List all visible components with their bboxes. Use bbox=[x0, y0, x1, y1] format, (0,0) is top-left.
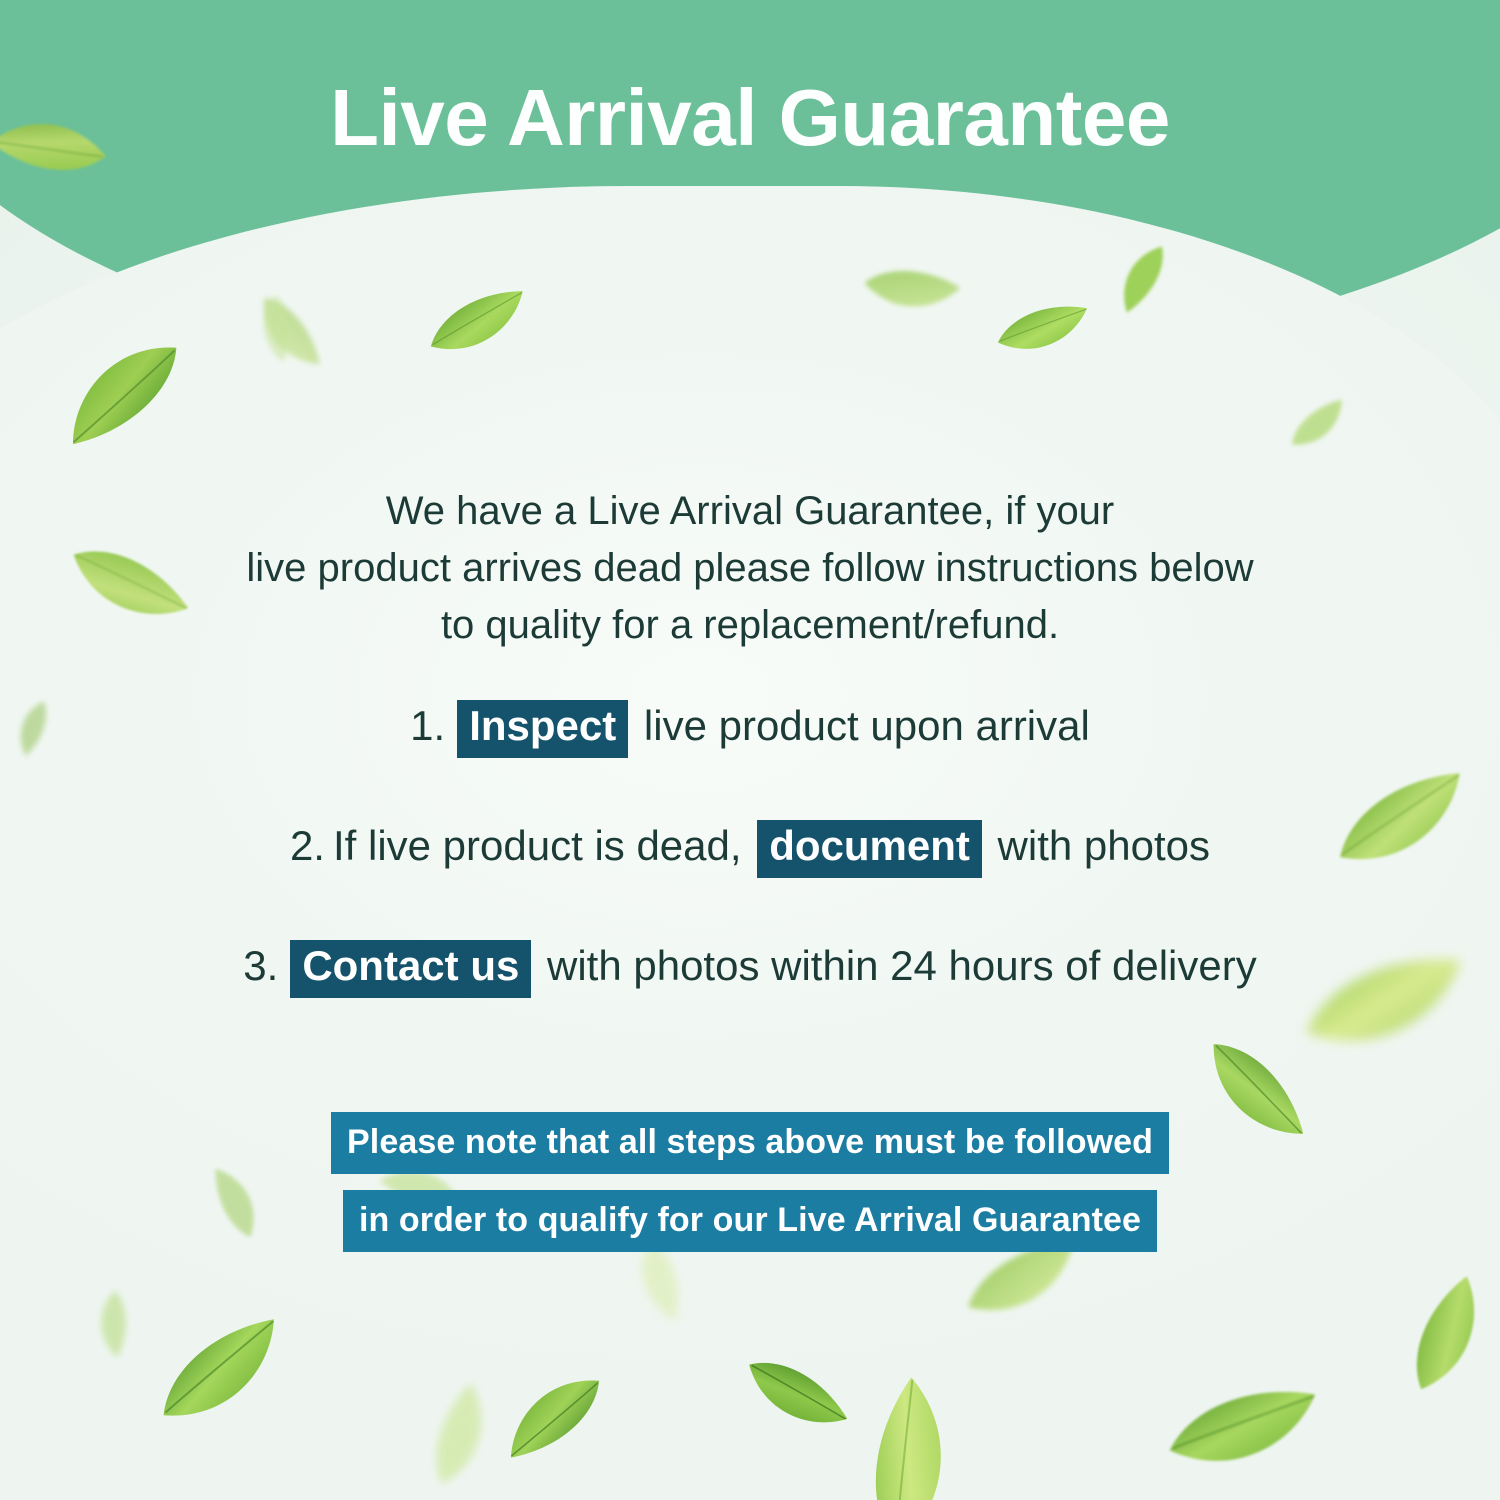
disclaimer-notes: Please note that all steps above must be… bbox=[0, 1112, 1500, 1268]
step-highlight-contact-us: Contact us bbox=[290, 940, 531, 998]
step-item-1: 1.Inspect live product upon arrival bbox=[100, 700, 1400, 758]
step-highlight-document: document bbox=[757, 820, 982, 878]
step-number: 3. bbox=[243, 942, 278, 989]
note-row-2: in order to qualify for our Live Arrival… bbox=[0, 1190, 1500, 1252]
intro-line-3: to quality for a replacement/refund. bbox=[150, 597, 1350, 654]
step-text: with photos within 24 hours of delivery bbox=[535, 942, 1256, 989]
step-text-pre: If live product is dead, bbox=[333, 822, 753, 869]
step-text: with photos bbox=[986, 822, 1210, 869]
intro-line-2: live product arrives dead please follow … bbox=[150, 540, 1350, 597]
note-row-1: Please note that all steps above must be… bbox=[0, 1112, 1500, 1174]
step-number: 1. bbox=[410, 702, 445, 749]
step-text: live product upon arrival bbox=[632, 702, 1090, 749]
step-item-3: 3.Contact us with photos within 24 hours… bbox=[100, 940, 1400, 998]
step-number: 2. bbox=[290, 822, 325, 869]
note-line-2: in order to qualify for our Live Arrival… bbox=[343, 1190, 1157, 1252]
step-highlight-inspect: Inspect bbox=[457, 700, 628, 758]
step-item-2: 2.If live product is dead, document with… bbox=[100, 820, 1400, 878]
steps-list: 1.Inspect live product upon arrival 2.If… bbox=[100, 700, 1400, 1060]
intro-paragraph: We have a Live Arrival Guarantee, if you… bbox=[150, 483, 1350, 654]
intro-line-1: We have a Live Arrival Guarantee, if you… bbox=[150, 483, 1350, 540]
note-line-1: Please note that all steps above must be… bbox=[331, 1112, 1169, 1174]
page-title: Live Arrival Guarantee bbox=[0, 78, 1500, 158]
live-arrival-guarantee-poster: Live Arrival Guarantee We have a Live Ar… bbox=[0, 0, 1500, 1500]
